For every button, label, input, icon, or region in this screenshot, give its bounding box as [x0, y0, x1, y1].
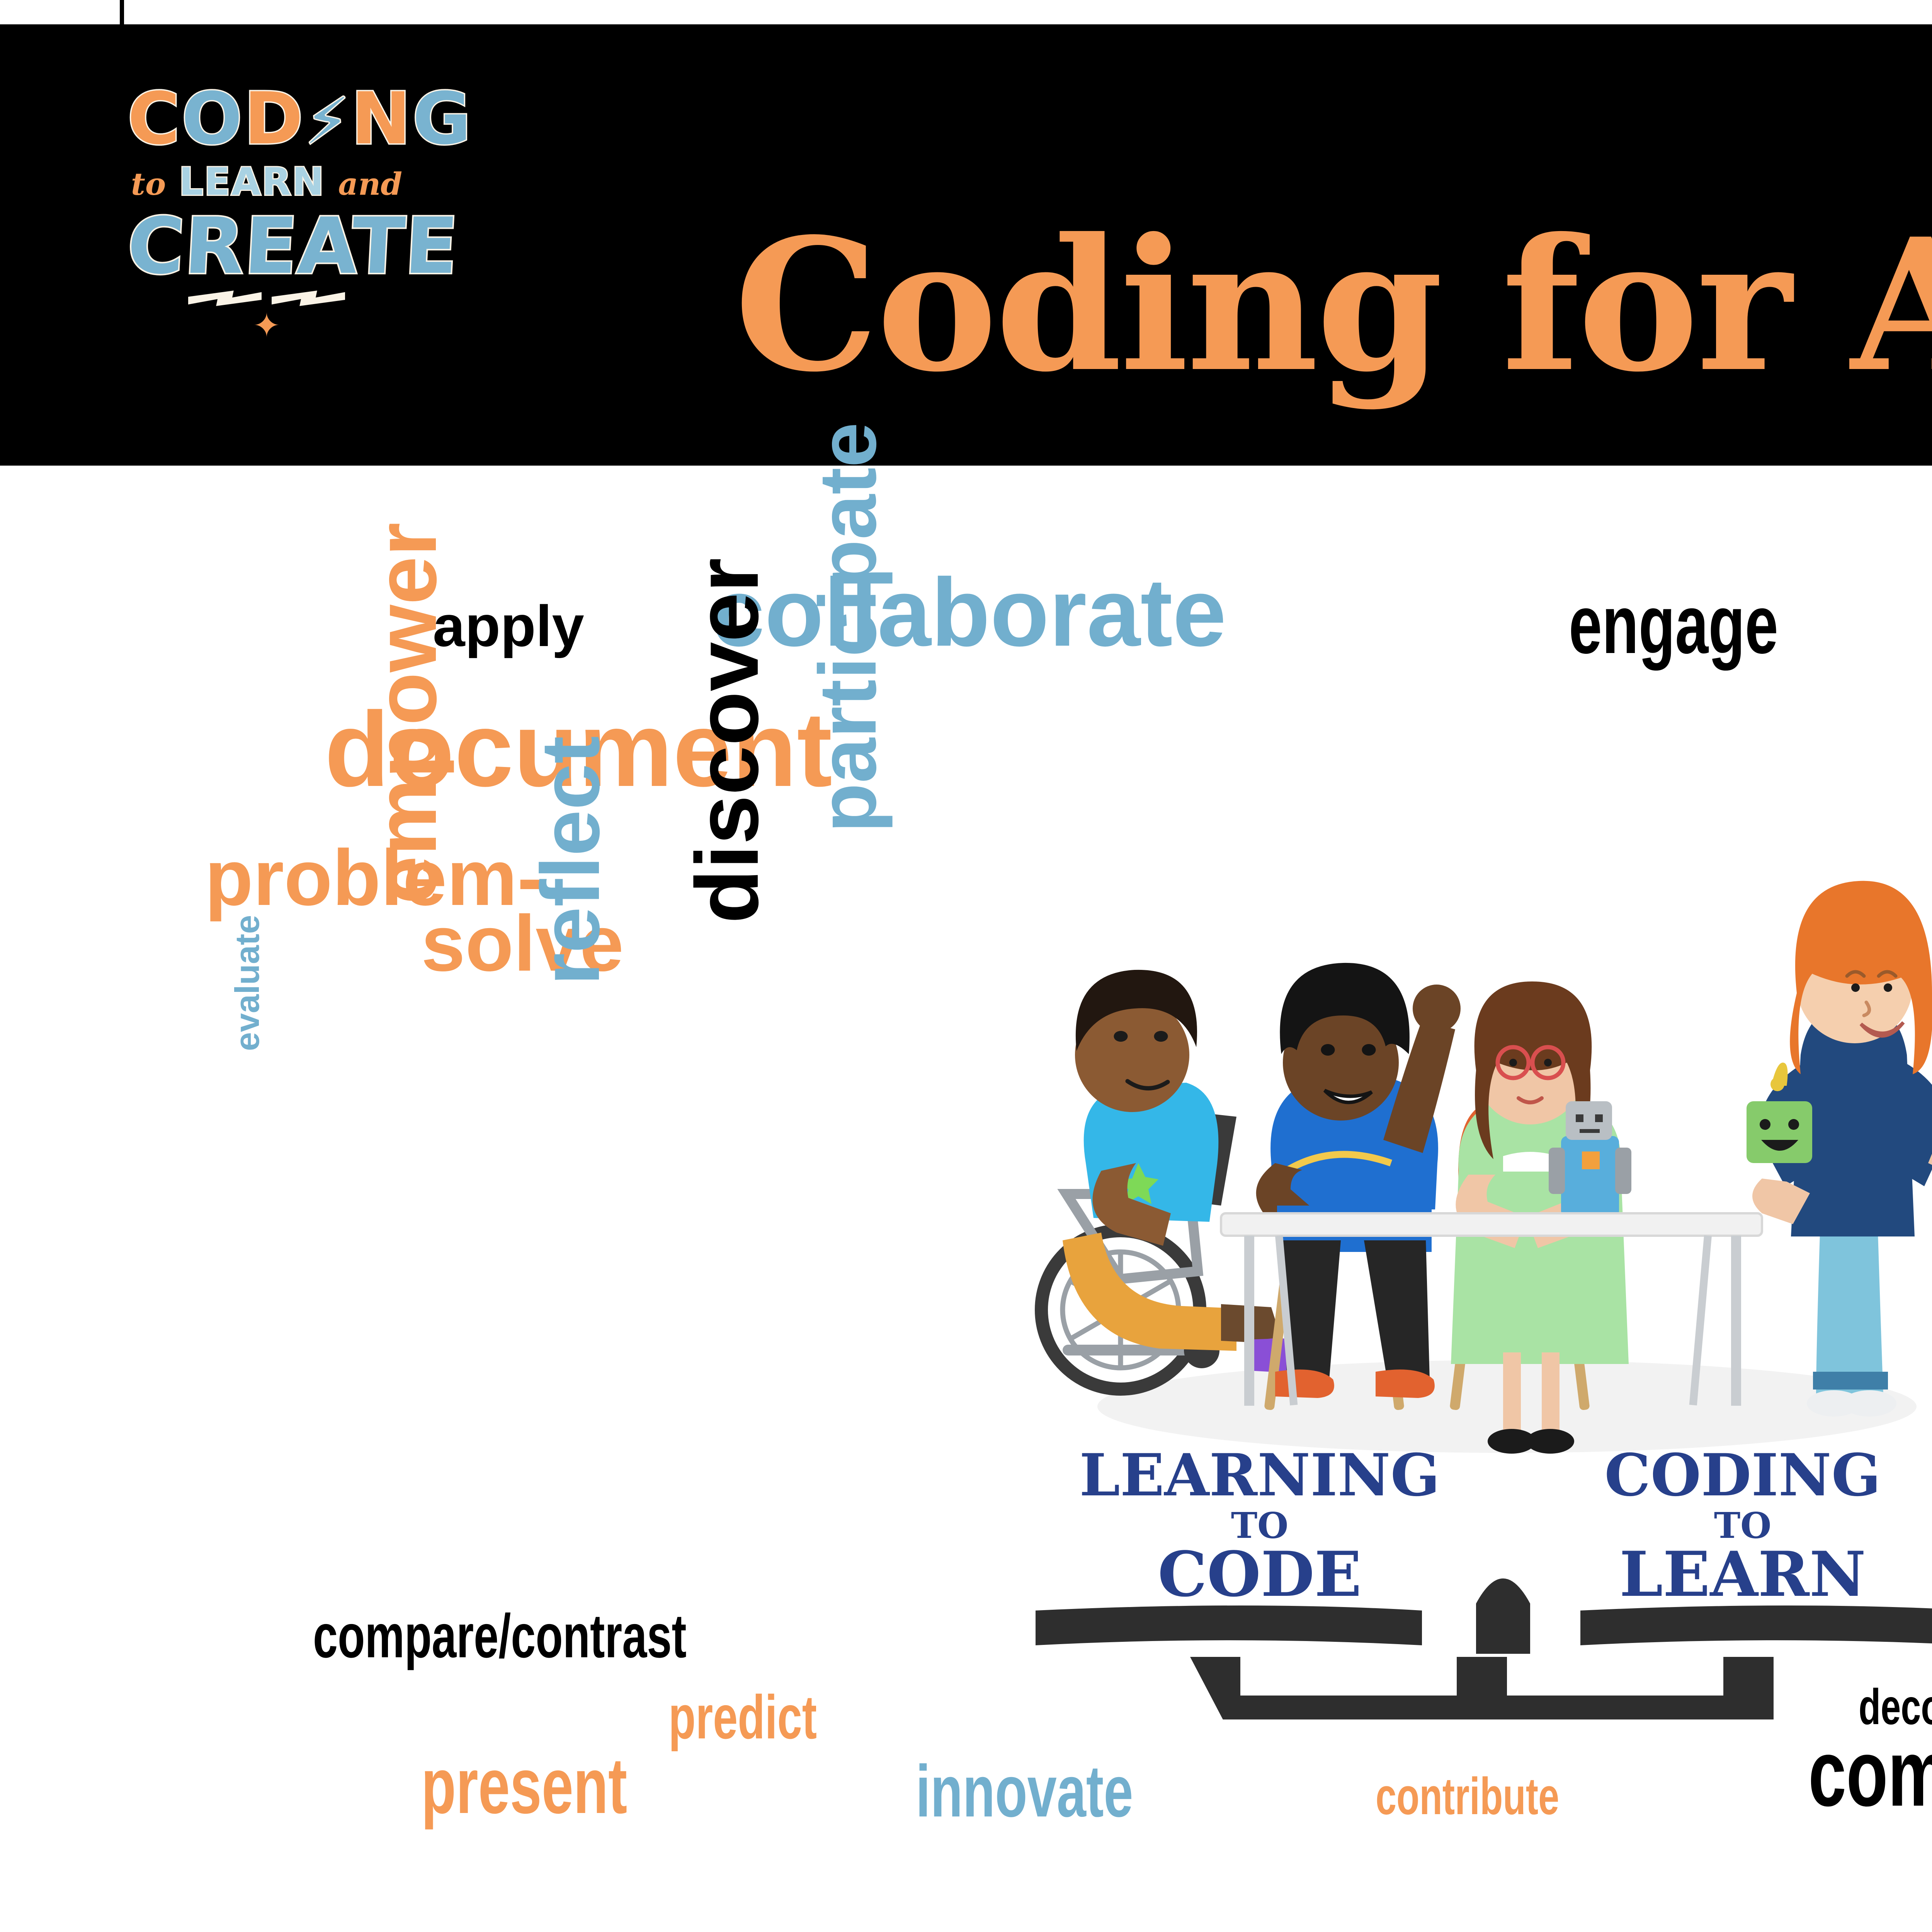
logo-letter-d: D	[244, 77, 305, 160]
word-apply: apply	[433, 603, 584, 649]
lightning-bolt-icon: ⚡	[305, 84, 351, 158]
word-collaborate: collaborate	[711, 574, 1226, 651]
balance-scale: LEARNING TO CODE CODING TO LEARN	[1036, 1441, 1932, 1719]
svg-text:LEARNING: LEARNING	[1079, 1441, 1440, 1509]
word-reflect: reflect	[537, 736, 604, 985]
logo-letter-c: C	[128, 77, 182, 160]
svg-text:CODE: CODE	[1158, 1538, 1361, 1611]
word-participate: participate	[815, 422, 880, 833]
word-compare-contrast: compare/contrast	[313, 1611, 687, 1661]
logo-bolt-underline	[128, 291, 406, 306]
word-empower: empower	[371, 522, 440, 904]
word-predict: predict	[668, 1692, 817, 1742]
logo-coding-word: COD⚡NG	[128, 83, 406, 155]
logo-letter-n: N	[351, 77, 413, 160]
page-title: Coding for ALL	[734, 182, 1932, 429]
svg-text:CODING: CODING	[1604, 1441, 1881, 1509]
word-discover: discover	[692, 558, 763, 923]
logo-letter-g: G	[412, 77, 473, 160]
word-communicate: communicate	[1808, 1735, 1932, 1811]
word-contribute: contribute	[1376, 1776, 1559, 1817]
classroom-illustration: LEARNING TO CODE CODING TO LEARN	[1005, 869, 1932, 1719]
svg-text:LEARN: LEARN	[1619, 1538, 1866, 1611]
logo-word-create: CREATE	[126, 208, 408, 285]
logo-word-to: to	[131, 166, 166, 202]
word-engage: engage	[1569, 591, 1778, 658]
word-evaluate: evaluate	[234, 915, 261, 1051]
teacher	[1747, 881, 1932, 1417]
word-innovate: innovate	[916, 1762, 1133, 1821]
sparkle-icon: ✦	[128, 316, 406, 336]
coding-to-learn-and-create-logo: COD⚡NG to LEARN and CREATE ✦	[128, 83, 406, 431]
logo-letter-o: O	[182, 77, 244, 160]
logo-to-learn-and: to LEARN and	[128, 163, 406, 201]
logo-word-learn: LEARN	[179, 160, 325, 204]
word-present: present	[421, 1754, 627, 1818]
logo-word-and: and	[338, 166, 402, 202]
